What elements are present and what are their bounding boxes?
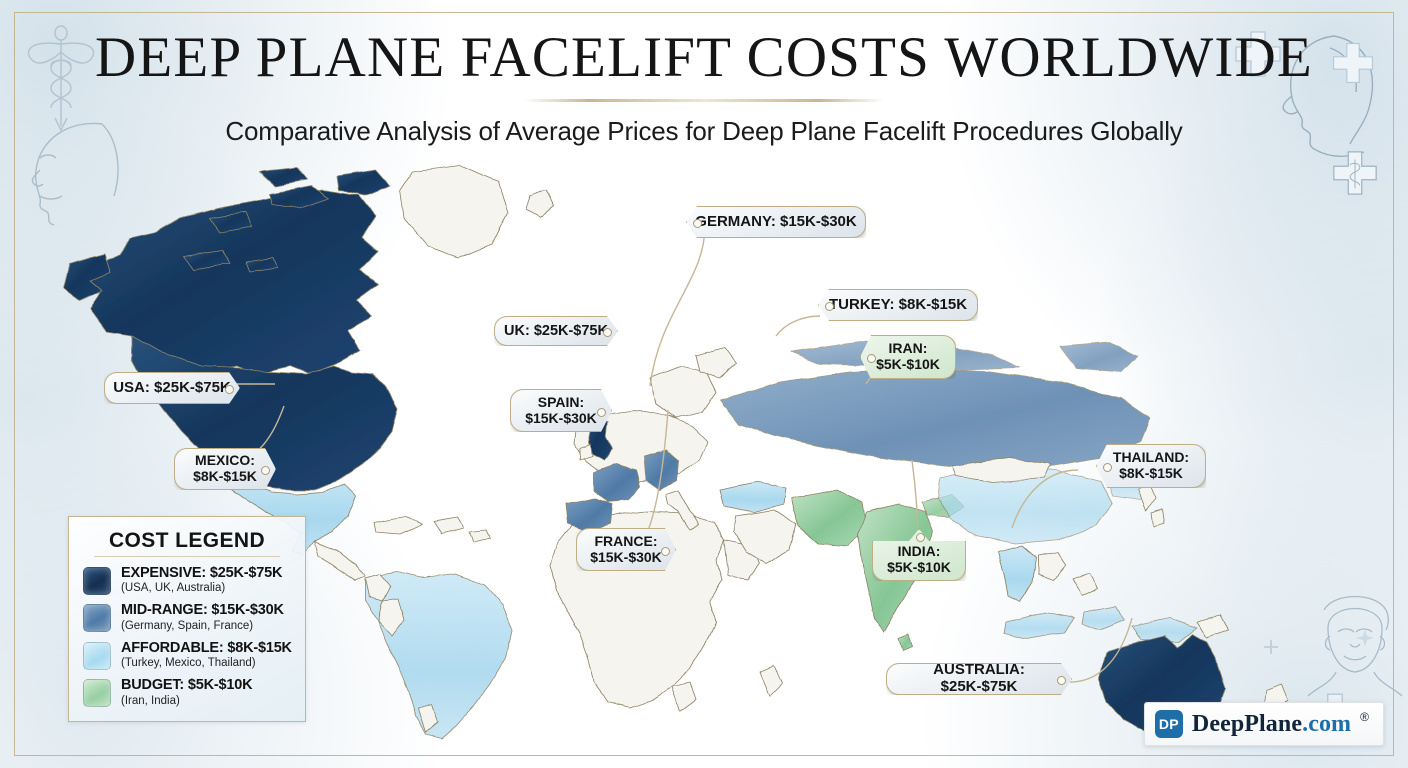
tag-hole bbox=[261, 466, 270, 475]
infographic-canvas: DEEP PLANE FACELIFT COSTS WORLDWIDE Comp… bbox=[0, 0, 1408, 768]
legend-label: MID-RANGE: $15K-$30K bbox=[121, 602, 284, 618]
legend-item-expensive[interactable]: EXPENSIVE: $25K-$75K (USA, UK, Australia… bbox=[69, 565, 305, 595]
callout-usa-text: USA: $25K-$75K bbox=[107, 380, 237, 397]
callout-turkey-text: TURKEY: $8K-$15K bbox=[823, 297, 973, 314]
callout-mexico[interactable]: MEXICO:$8K-$15K bbox=[174, 448, 276, 490]
callout-iran[interactable]: IRAN:$5K-$10K bbox=[860, 335, 956, 379]
callout-germany-text: GERMANY: $15K-$30K bbox=[689, 214, 862, 231]
legend-countries: (Turkey, Mexico, Thailand) bbox=[121, 657, 292, 670]
tag-hole bbox=[225, 385, 234, 394]
logo-wordmark: DeepPlane.com bbox=[1192, 711, 1351, 738]
logo-tld: .com bbox=[1302, 711, 1351, 737]
callout-australia-text: AUSTRALIA: $25K-$75K bbox=[887, 662, 1071, 696]
tag-hole bbox=[661, 547, 670, 556]
tag-hole bbox=[597, 408, 606, 417]
deepplane-logo[interactable]: DP DeepPlane.com ® bbox=[1144, 702, 1384, 746]
legend-item-affordable[interactable]: AFFORDABLE: $8K-$15K (Turkey, Mexico, Th… bbox=[69, 640, 305, 670]
page-title: DEEP PLANE FACELIFT COSTS WORLDWIDE bbox=[0, 28, 1408, 88]
callout-iran-text: IRAN:$5K-$10K bbox=[870, 341, 946, 373]
logo-badge: DP bbox=[1155, 710, 1183, 738]
tag-hole bbox=[693, 219, 702, 228]
tag-hole bbox=[1057, 676, 1066, 685]
legend-swatch-affordable bbox=[83, 642, 111, 670]
legend-divider bbox=[94, 556, 280, 557]
legend-item-budget[interactable]: BUDGET: $5K-$10K (Iran, India) bbox=[69, 677, 305, 707]
callout-germany[interactable]: GERMANY: $15K-$30K bbox=[686, 206, 866, 238]
tag-hole bbox=[867, 354, 876, 363]
legend-countries: (USA, UK, Australia) bbox=[121, 582, 282, 595]
legend-swatch-mid-range bbox=[83, 604, 111, 632]
callout-spain[interactable]: SPAIN:$15K-$30K bbox=[510, 389, 612, 432]
legend-swatch-expensive bbox=[83, 567, 111, 595]
callout-turkey[interactable]: TURKEY: $8K-$15K bbox=[818, 289, 978, 321]
callout-uk[interactable]: UK: $25K-$75K bbox=[494, 316, 618, 346]
callout-france[interactable]: FRANCE:$15K-$30K bbox=[576, 528, 676, 571]
legend-label: AFFORDABLE: $8K-$15K bbox=[121, 640, 292, 656]
title-divider bbox=[524, 99, 884, 102]
legend-item-mid-range[interactable]: MID-RANGE: $15K-$30K (Germany, Spain, Fr… bbox=[69, 602, 305, 632]
cost-legend: COST LEGEND EXPENSIVE: $25K-$75K (USA, U… bbox=[68, 516, 306, 722]
tag-hole bbox=[603, 328, 612, 337]
callout-australia[interactable]: AUSTRALIA: $25K-$75K bbox=[886, 663, 1072, 695]
legend-countries: (Iran, India) bbox=[121, 695, 252, 708]
tag-hole bbox=[825, 302, 834, 311]
logo-brand: DeepPlane bbox=[1192, 711, 1302, 737]
callout-thailand-text: THAILAND:$8K-$15K bbox=[1107, 450, 1195, 482]
callout-uk-text: UK: $25K-$75K bbox=[498, 323, 614, 339]
callout-mexico-text: MEXICO:$8K-$15K bbox=[187, 453, 263, 485]
legend-label: BUDGET: $5K-$10K bbox=[121, 677, 252, 693]
legend-title: COST LEGEND bbox=[69, 529, 305, 553]
tag-hole bbox=[1103, 463, 1112, 472]
page-subtitle: Comparative Analysis of Average Prices f… bbox=[0, 116, 1408, 147]
callout-france-text: FRANCE:$15K-$30K bbox=[584, 534, 668, 566]
callout-spain-text: SPAIN:$15K-$30K bbox=[519, 395, 603, 427]
callout-thailand[interactable]: THAILAND:$8K-$15K bbox=[1096, 444, 1206, 488]
header: DEEP PLANE FACELIFT COSTS WORLDWIDE Comp… bbox=[0, 28, 1408, 147]
registered-mark: ® bbox=[1360, 710, 1369, 724]
legend-swatch-budget bbox=[83, 679, 111, 707]
callout-usa[interactable]: USA: $25K-$75K bbox=[104, 372, 240, 404]
legend-label: EXPENSIVE: $25K-$75K bbox=[121, 565, 282, 581]
legend-countries: (Germany, Spain, France) bbox=[121, 620, 284, 633]
